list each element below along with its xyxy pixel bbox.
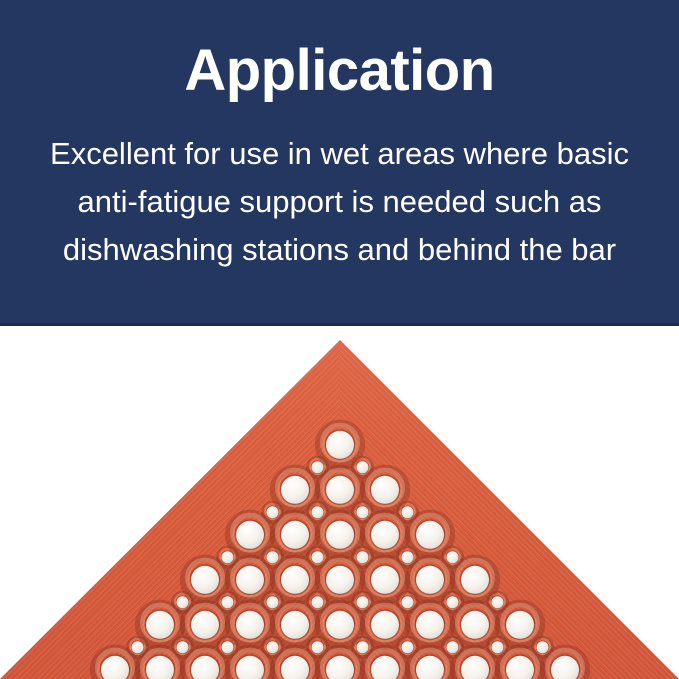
anti-fatigue-mat (0, 326, 679, 679)
application-description: Excellent for use in wet areas where bas… (0, 130, 679, 274)
application-banner: Application Excellent for use in wet are… (0, 0, 679, 326)
product-info-card: Application Excellent for use in wet are… (0, 0, 679, 679)
description-line-2: anti-fatigue support is needed such as (18, 178, 661, 226)
product-photo (0, 326, 679, 679)
description-line-1: Excellent for use in wet areas where bas… (18, 130, 661, 178)
description-line-3: dishwashing stations and behind the bar (18, 226, 661, 274)
mat-drainage-holes (0, 326, 679, 679)
page-title: Application (184, 42, 494, 100)
